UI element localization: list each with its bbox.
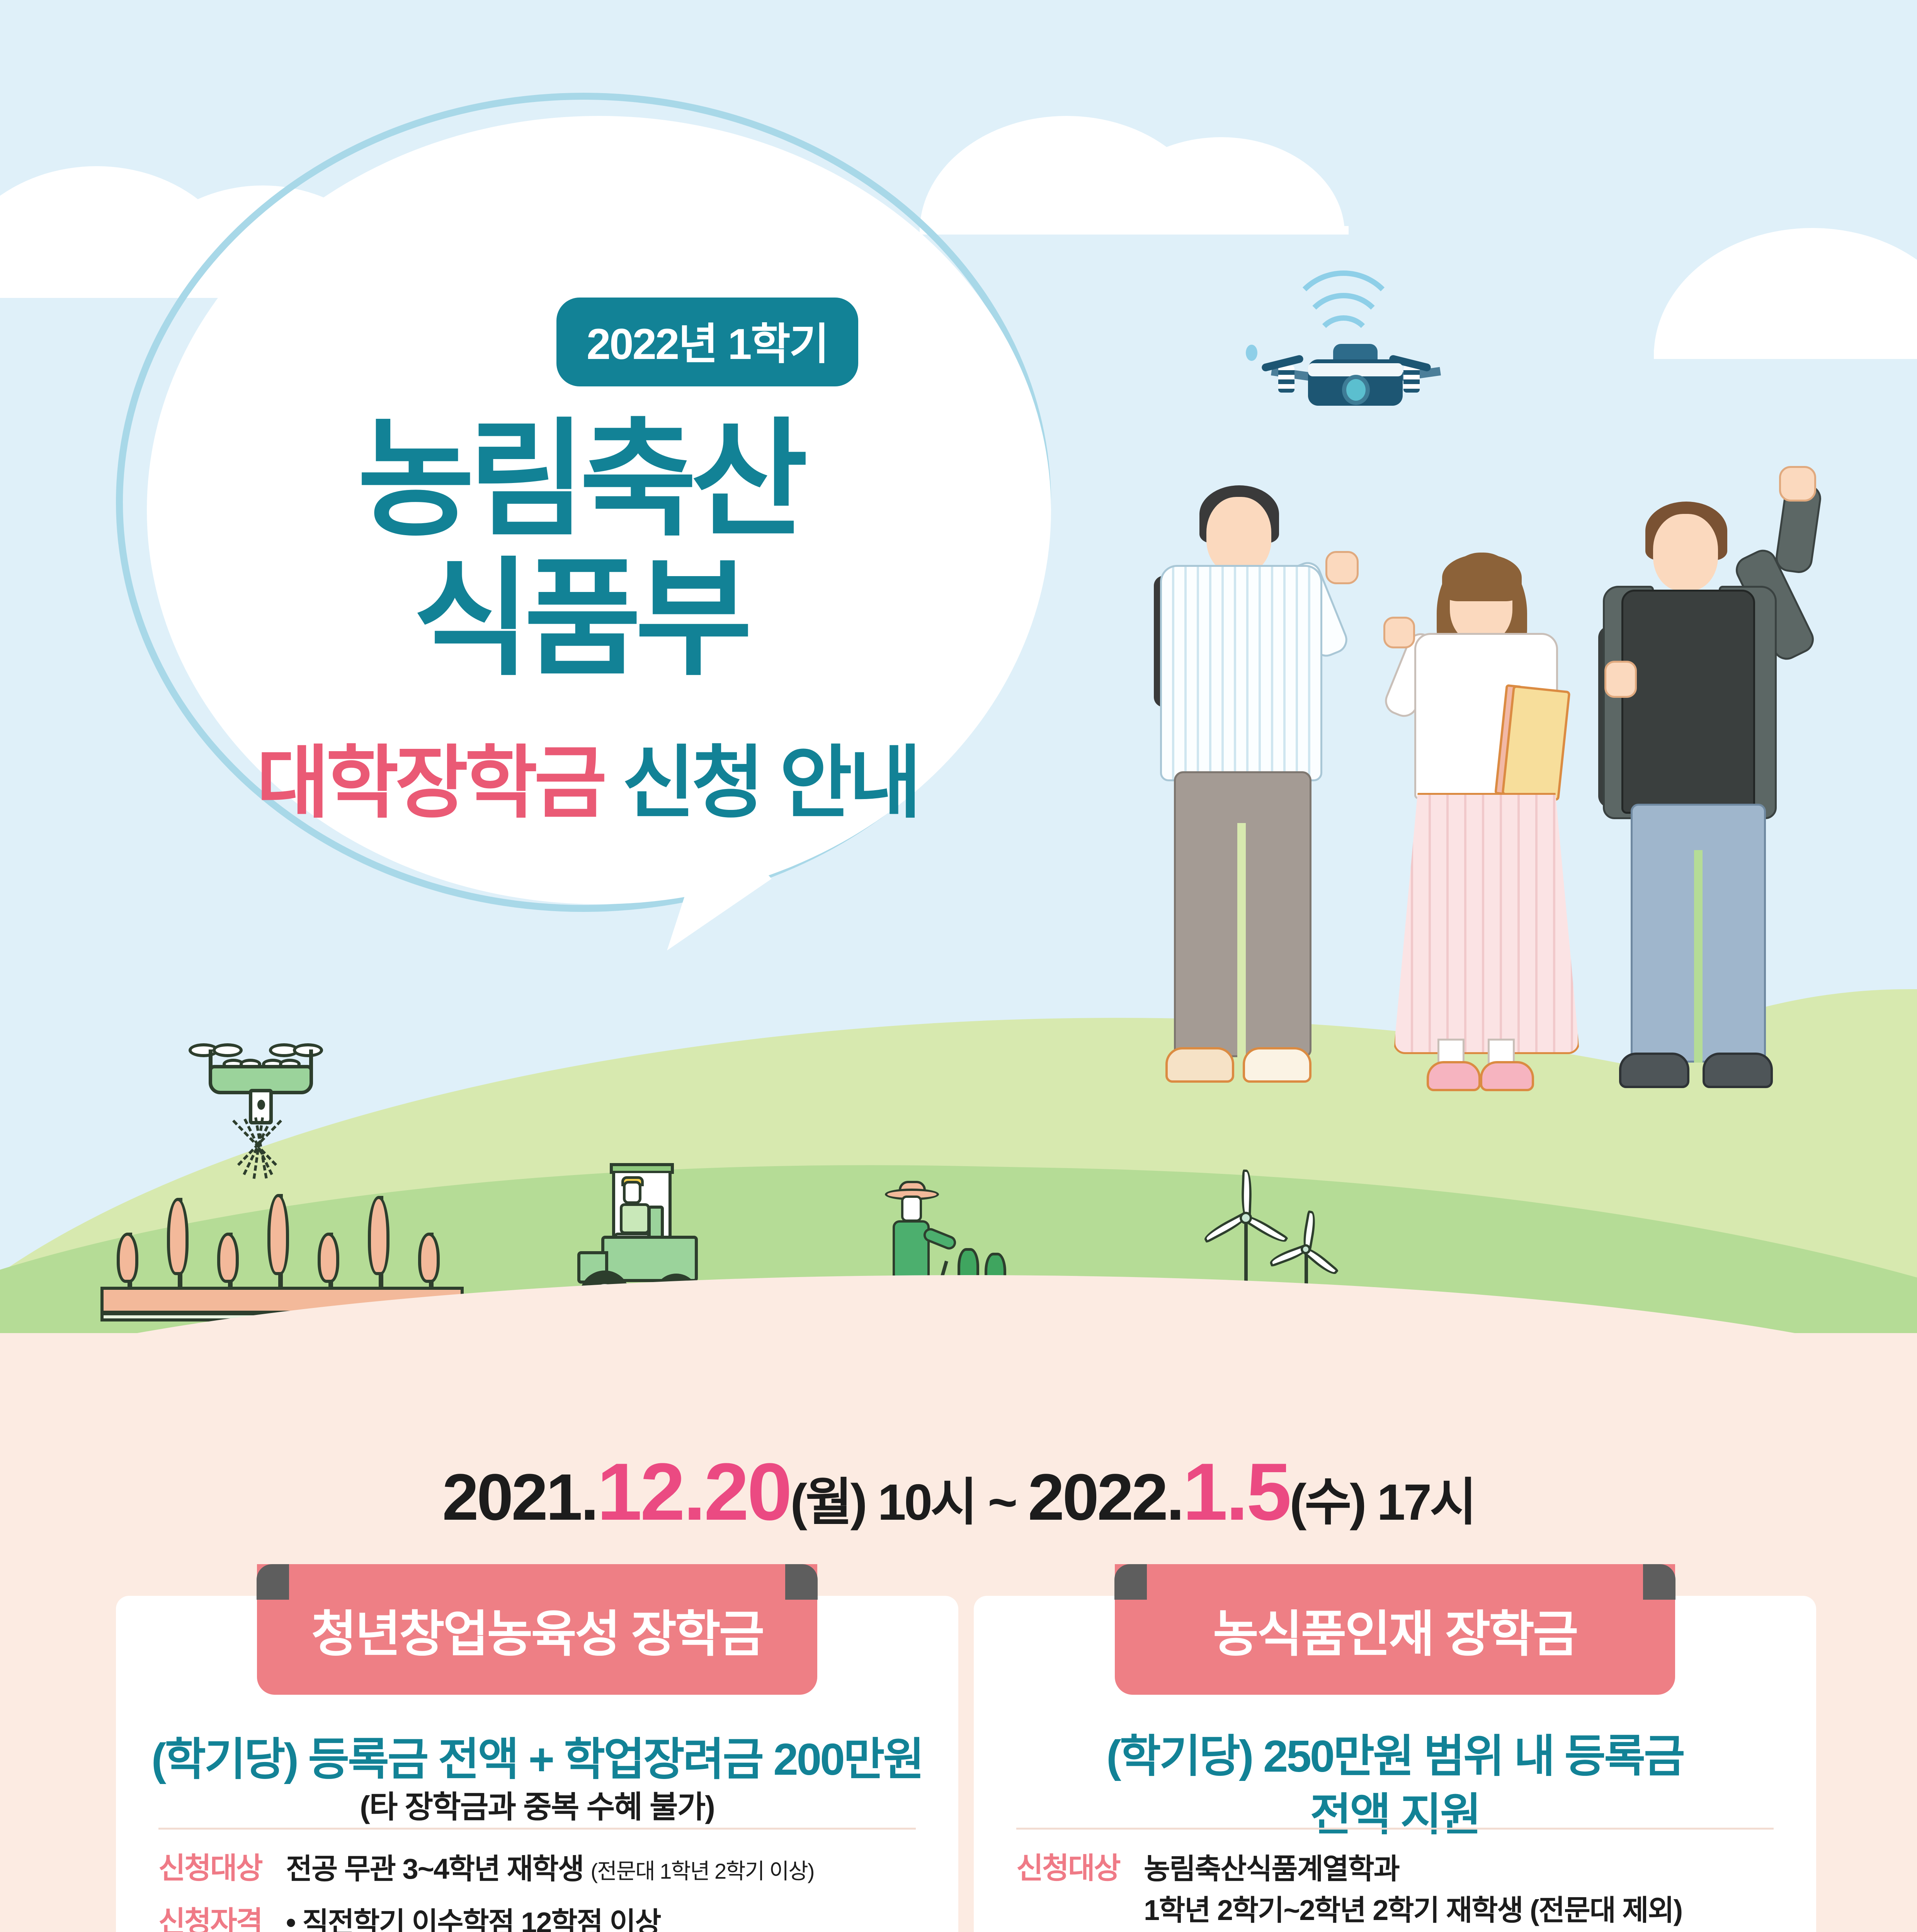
row-body: • 직전학기 이수학점 12학점 이상 • 성적 70점 이상인 만 40세 미… (286, 1905, 927, 1932)
card-amount: (학기당) 등록금 전액 + 학업장려금 200만원 (116, 1731, 958, 1787)
row-main: 전공 무관 3~4학년 재학생 (286, 1853, 583, 1885)
poster-root: 2022년 1학기 농림축산 식품부 대학장학금 신청 안내 (0, 0, 1917, 1932)
period-start-year: 2021. (442, 1461, 597, 1534)
row-label: 신청자격 (158, 1905, 286, 1932)
title-speech-bubble: 2022년 1학기 농림축산 식품부 대학장학금 신청 안내 (116, 93, 1105, 1020)
period-end-date: 1.5 (1182, 1446, 1289, 1537)
row-main: 농림축산식품계열학과 (1144, 1851, 1785, 1888)
period-start-date: 12.20 (597, 1446, 791, 1537)
row-label: 신청대상 (1016, 1851, 1144, 1932)
students-illustration (1117, 460, 1897, 1217)
scholarship-card-talent: 농식품인재 장학금 (학기당) 250만원 범위 내 등록금전액 지원 신청대상… (974, 1596, 1816, 1932)
agricultural-drone-icon (158, 1020, 359, 1136)
detail-row: 신청자격 • 직전학기 이수학점 12학점 이상 • 성적 70점 이상인 만 … (158, 1905, 927, 1932)
subtitle-scholarship: 대학장학금 (257, 739, 604, 827)
page-subtitle: 대학장학금 신청 안내 (116, 719, 1059, 833)
detail-row: 신청대상 전공 무관 3~4학년 재학생 (전문대 1학년 2학기 이상) (158, 1851, 927, 1888)
row-label: 신청대상 (158, 1851, 286, 1888)
application-period: 2021.12.20(월) 10시 ~ 2022.1.5(수) 17시 (0, 1445, 1917, 1539)
card-ribbon-header: 청년창업농육성 장학금 (257, 1564, 817, 1695)
card-amount: (학기당) 250만원 범위 내 등록금전액 지원 (974, 1727, 1816, 1844)
scholarship-card-youth: 청년창업농육성 장학금 (학기당) 등록금 전액 + 학업장려금 200만원 (… (116, 1596, 958, 1932)
cloud-icon (1654, 228, 1917, 355)
row-body: 농림축산식품계열학과 1학년 2학기~2학년 2학기 재학생 (전문대 제외) (1144, 1851, 1785, 1932)
semester-badge: 2022년 1학기 (556, 298, 858, 386)
row-body: 전공 무관 3~4학년 재학생 (전문대 1학년 2학기 이상) (286, 1851, 927, 1888)
period-start-day: (월) 10시 ~ (790, 1474, 1028, 1531)
card-title: 농식품인재 장학금 (1213, 1594, 1577, 1665)
row-bullet: 1학년 2학기~2학년 2학기 재학생 (전문대 제외) (1144, 1892, 1785, 1929)
drone-icon (1229, 247, 1468, 375)
row-note: (전문대 1학년 2학기 이상) (591, 1859, 814, 1883)
cloud-base (1654, 350, 1917, 359)
subtitle-guide: 신청 안내 (622, 739, 918, 827)
page-title-line1: 농림축산 (116, 413, 1043, 546)
card-title: 청년창업농육성 장학금 (311, 1594, 763, 1665)
page-title-line2: 식품부 (116, 553, 1043, 685)
card-amount-note: (타 장학금과 중복 수혜 불가) (116, 1782, 958, 1827)
row-bullet: • 직전학기 이수학점 12학점 이상 (286, 1905, 927, 1932)
card-ribbon-header: 농식품인재 장학금 (1115, 1564, 1675, 1695)
detail-row: 신청대상 농림축산식품계열학과 1학년 2학기~2학년 2학기 재학생 (전문대… (1016, 1851, 1785, 1932)
period-end-year: 2022. (1028, 1461, 1182, 1534)
period-end-day: (수) 17시 (1289, 1474, 1475, 1531)
wifi-signal-icon (1327, 247, 1370, 290)
